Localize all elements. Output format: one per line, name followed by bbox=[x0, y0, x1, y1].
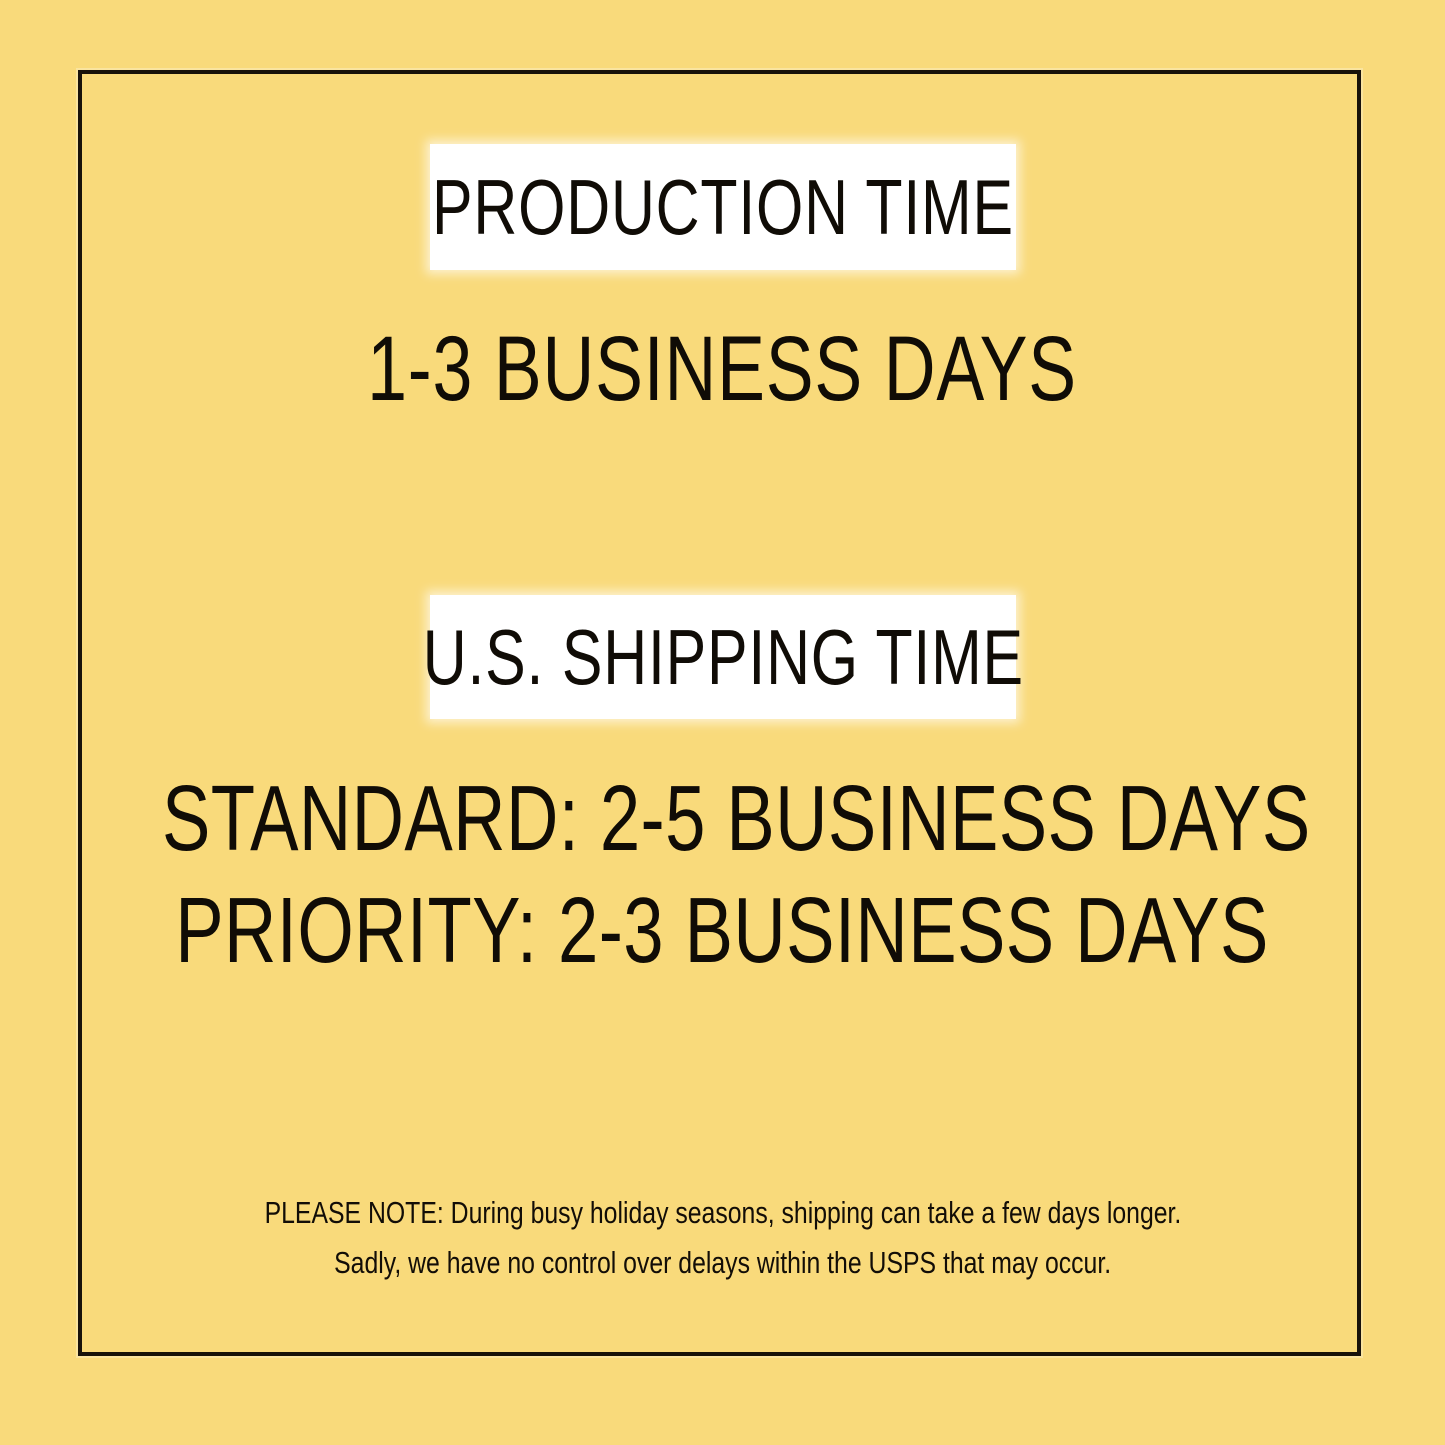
shipping-policy-graphic: PRODUCTION TIME 1-3 BUSINESS DAYS U.S. S… bbox=[0, 0, 1445, 1445]
production-time-value: 1-3 BUSINESS DAYS bbox=[0, 323, 1445, 415]
graphic-content: PRODUCTION TIME 1-3 BUSINESS DAYS U.S. S… bbox=[0, 0, 1445, 1445]
shipping-time-heading-chip: U.S. SHIPPING TIME bbox=[430, 595, 1016, 719]
production-time-heading-label: PRODUCTION TIME bbox=[432, 168, 1014, 246]
production-time-heading-chip: PRODUCTION TIME bbox=[430, 144, 1016, 270]
standard-shipping-value: STANDARD: 2-5 BUSINESS DAYS bbox=[0, 772, 1445, 865]
production-time-value-text: 1-3 BUSINESS DAYS bbox=[368, 323, 1078, 415]
fineprint-line-2: Sadly, we have no control over delays wi… bbox=[110, 1238, 1335, 1288]
fineprint-line-2-text: Sadly, we have no control over delays wi… bbox=[334, 1238, 1111, 1288]
standard-shipping-value-text: STANDARD: 2-5 BUSINESS DAYS bbox=[162, 772, 1311, 865]
priority-shipping-value-text: PRIORITY: 2-3 BUSINESS DAYS bbox=[176, 884, 1270, 977]
fineprint-line-1-text: PLEASE NOTE: During busy holiday seasons… bbox=[264, 1188, 1181, 1238]
fineprint-note: PLEASE NOTE: During busy holiday seasons… bbox=[110, 1188, 1335, 1288]
priority-shipping-value: PRIORITY: 2-3 BUSINESS DAYS bbox=[0, 884, 1445, 977]
shipping-time-heading-label: U.S. SHIPPING TIME bbox=[422, 618, 1023, 696]
fineprint-line-1: PLEASE NOTE: During busy holiday seasons… bbox=[110, 1188, 1335, 1238]
